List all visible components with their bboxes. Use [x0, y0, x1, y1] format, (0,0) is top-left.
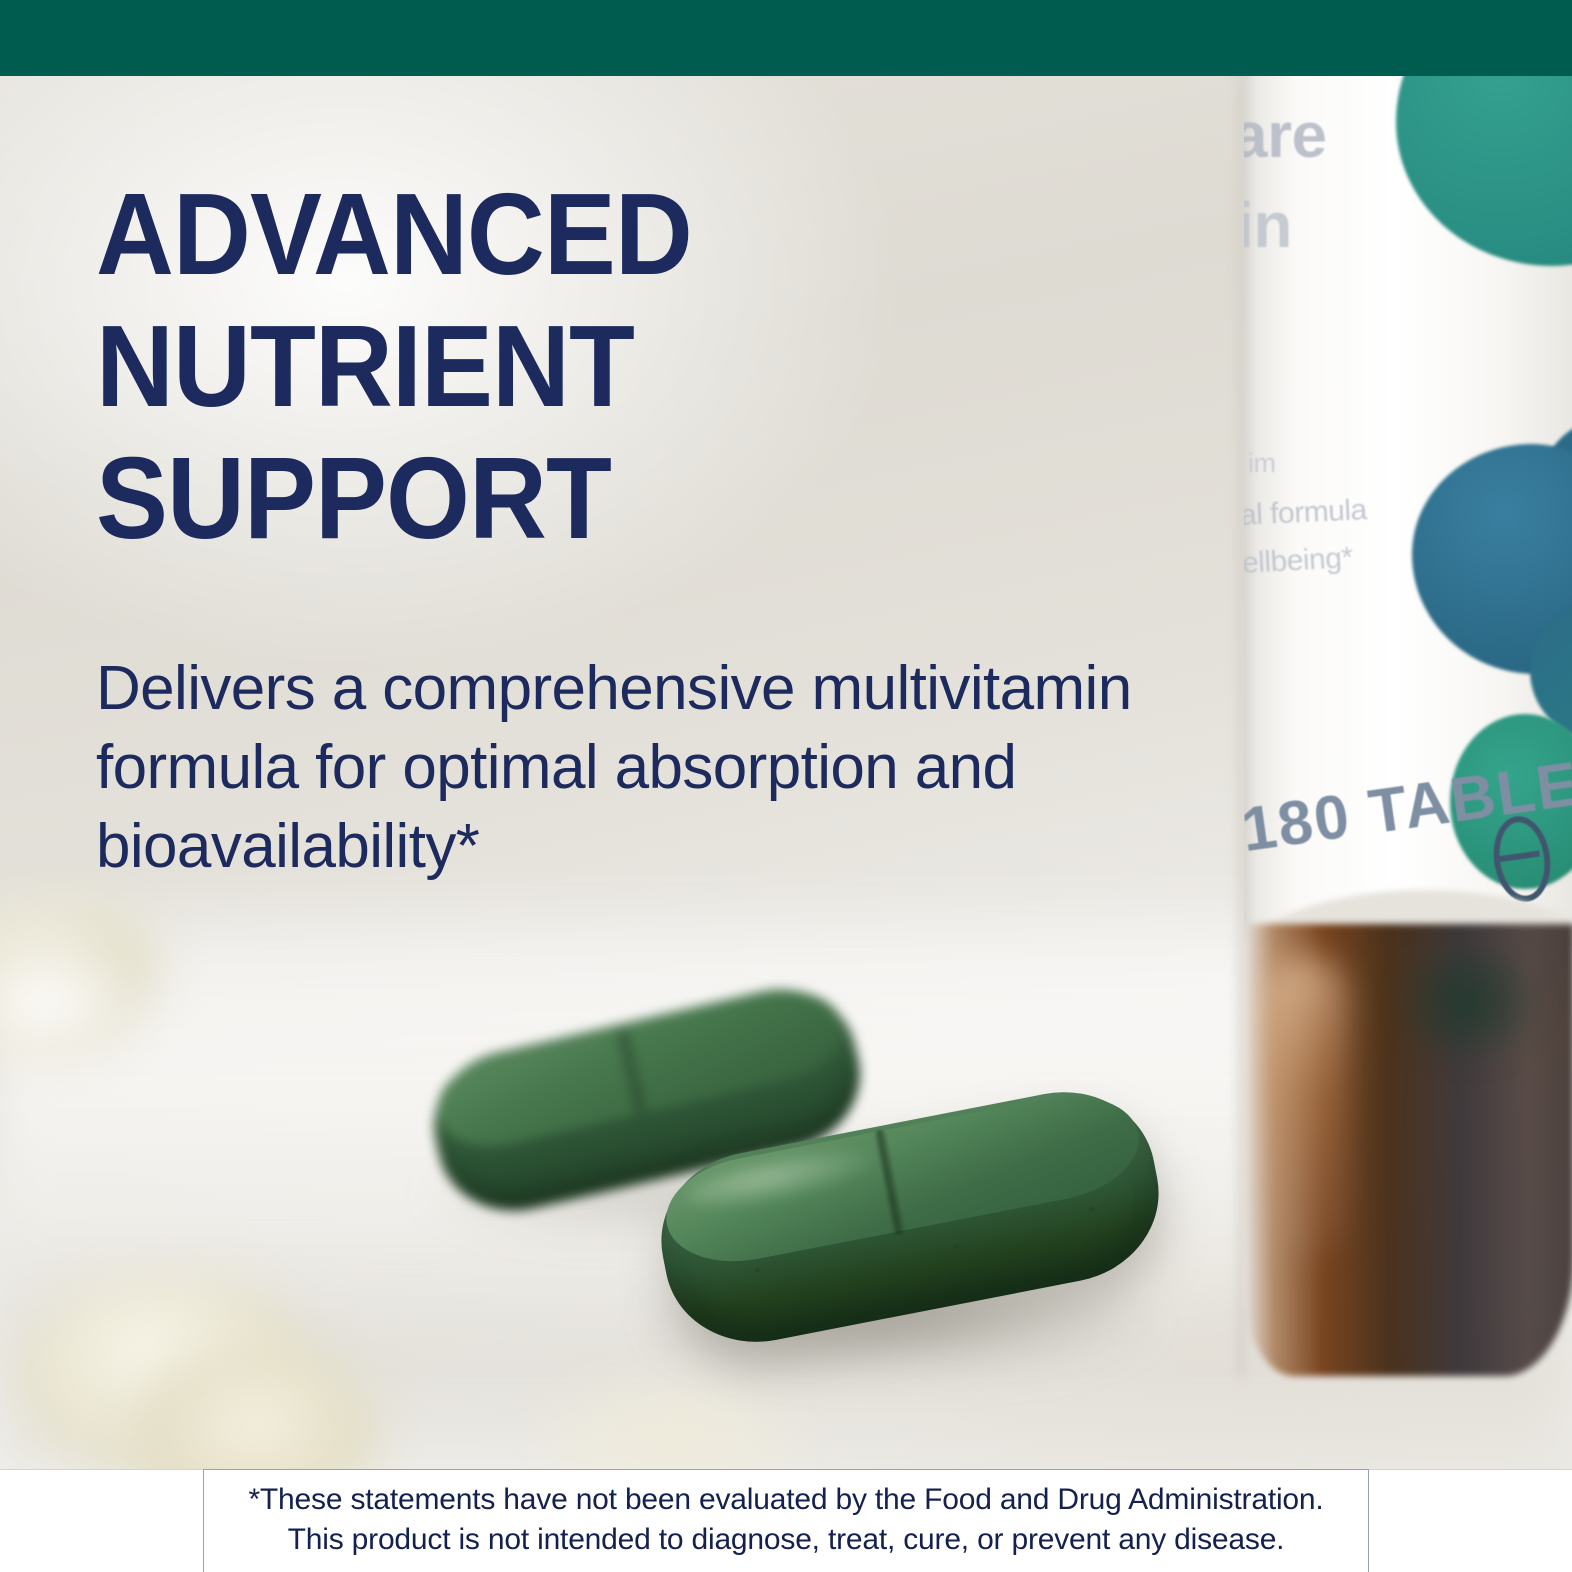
bottle-product-text: in — [1244, 188, 1292, 262]
footer-disclaimer-band: *These statements have not been evaluate… — [0, 1469, 1572, 1572]
page-title: ADVANCED NUTRIENT SUPPORT — [96, 168, 1128, 565]
bottle-label: are in im al formula ellbeing* 180 TABLE… — [1244, 76, 1572, 946]
disclaimer-box: *These statements have not been evaluate… — [203, 1469, 1369, 1572]
bottle-detail-text-2: al formula — [1244, 493, 1367, 532]
supplement-bottle: are in im al formula ellbeing* 180 TABLE… — [1244, 76, 1572, 1376]
bottle-glass-highlight — [1266, 956, 1346, 1256]
copy-block: ADVANCED NUTRIENT SUPPORT Delivers a com… — [96, 168, 1206, 887]
disclaimer-line-1: *These statements have not been evaluate… — [216, 1480, 1356, 1520]
label-molecule-green-top-icon — [1396, 76, 1572, 266]
bottle-detail-text-3: ellbeing* — [1244, 541, 1353, 581]
bottle-glass-green-reflection — [1394, 936, 1544, 1066]
bottle-detail-text-1: im — [1248, 448, 1276, 479]
product-marketing-image: are in im al formula ellbeing* 180 TABLE… — [0, 0, 1572, 1572]
disclaimer-line-2: This product is not intended to diagnose… — [216, 1520, 1356, 1560]
bottle-brand-text: are — [1244, 98, 1327, 172]
top-green-band — [0, 0, 1572, 76]
subheadline: Delivers a comprehensive multivitamin fo… — [96, 565, 1206, 887]
